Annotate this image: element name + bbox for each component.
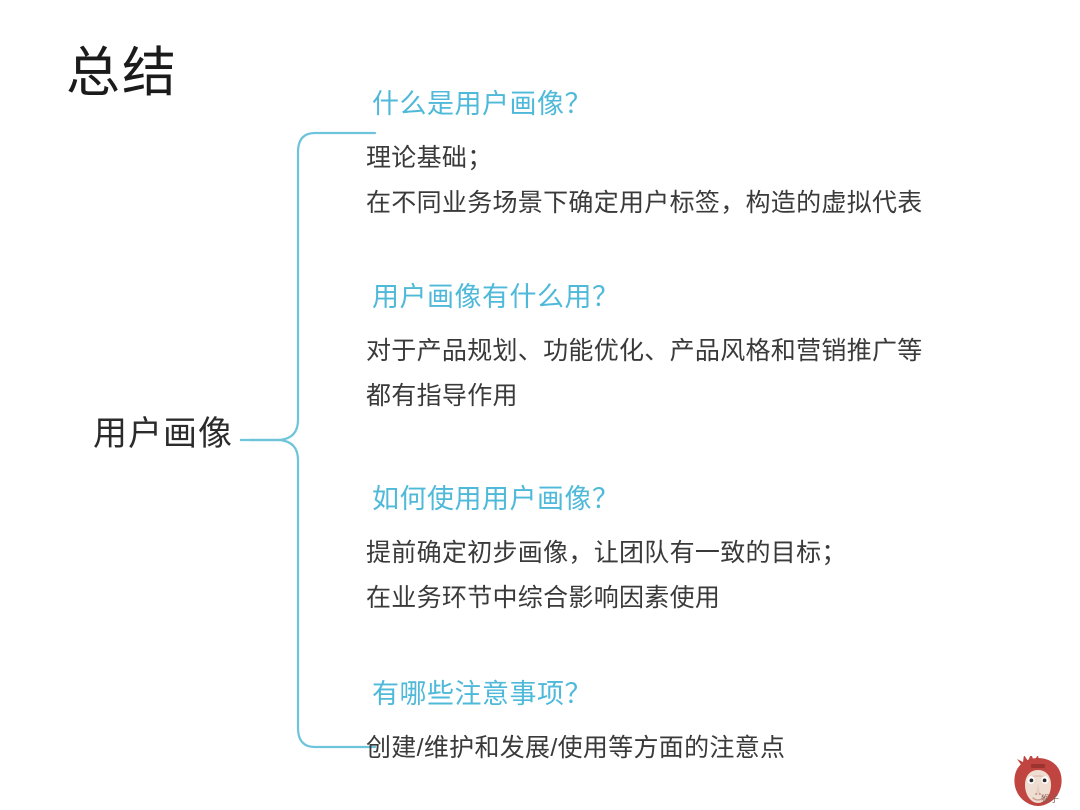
branch-body-line: 在业务环节中综合影响因素使用	[366, 576, 1066, 621]
branch-body-line: 理论基础；	[366, 136, 1066, 181]
logo-caption: 猴子	[1041, 792, 1059, 805]
slide-canvas: 总结 用户画像 什么是用户画像？ 理论基础； 在不同业务场景下确定用户标签，构造…	[0, 0, 1080, 810]
mindmap-branch: 什么是用户画像？ 理论基础； 在不同业务场景下确定用户标签，构造的虚拟代表	[366, 88, 1066, 225]
branch-heading: 什么是用户画像？	[372, 88, 1066, 122]
monkey-face-icon	[1002, 756, 1074, 808]
branch-body: 提前确定初步画像，让团队有一致的目标； 在业务环节中综合影响因素使用	[366, 531, 1066, 621]
mindmap-branch: 如何使用用户画像？ 提前确定初步画像，让团队有一致的目标； 在业务环节中综合影响…	[366, 483, 1066, 620]
branch-body-line: 提前确定初步画像，让团队有一致的目标；	[366, 531, 1066, 576]
mindmap-branch: 用户画像有什么用？ 对于产品规划、功能优化、产品风格和营销推广等 都有指导作用	[366, 281, 1066, 418]
branch-body-line: 对于产品规划、功能优化、产品风格和营销推广等	[366, 329, 1066, 374]
branch-heading: 如何使用用户画像？	[372, 483, 1066, 517]
branch-heading: 有哪些注意事项？	[372, 678, 1066, 712]
branch-body: 创建/维护和发展/使用等方面的注意点	[366, 726, 1066, 771]
branch-body: 理论基础； 在不同业务场景下确定用户标签，构造的虚拟代表	[366, 136, 1066, 226]
mindmap-branch-list: 什么是用户画像？ 理论基础； 在不同业务场景下确定用户标签，构造的虚拟代表 用户…	[366, 0, 1066, 810]
branch-body: 对于产品规划、功能优化、产品风格和营销推广等 都有指导作用	[366, 329, 1066, 419]
mindmap-root-node: 用户画像	[78, 414, 248, 455]
branch-heading: 用户画像有什么用？	[372, 281, 1066, 315]
branch-body-line: 都有指导作用	[366, 374, 1066, 419]
mindmap-branch: 有哪些注意事项？ 创建/维护和发展/使用等方面的注意点	[366, 678, 1066, 771]
page-title: 总结	[66, 42, 178, 104]
branch-body-line: 创建/维护和发展/使用等方面的注意点	[366, 726, 1066, 771]
branch-body-line: 在不同业务场景下确定用户标签，构造的虚拟代表	[366, 181, 1066, 226]
